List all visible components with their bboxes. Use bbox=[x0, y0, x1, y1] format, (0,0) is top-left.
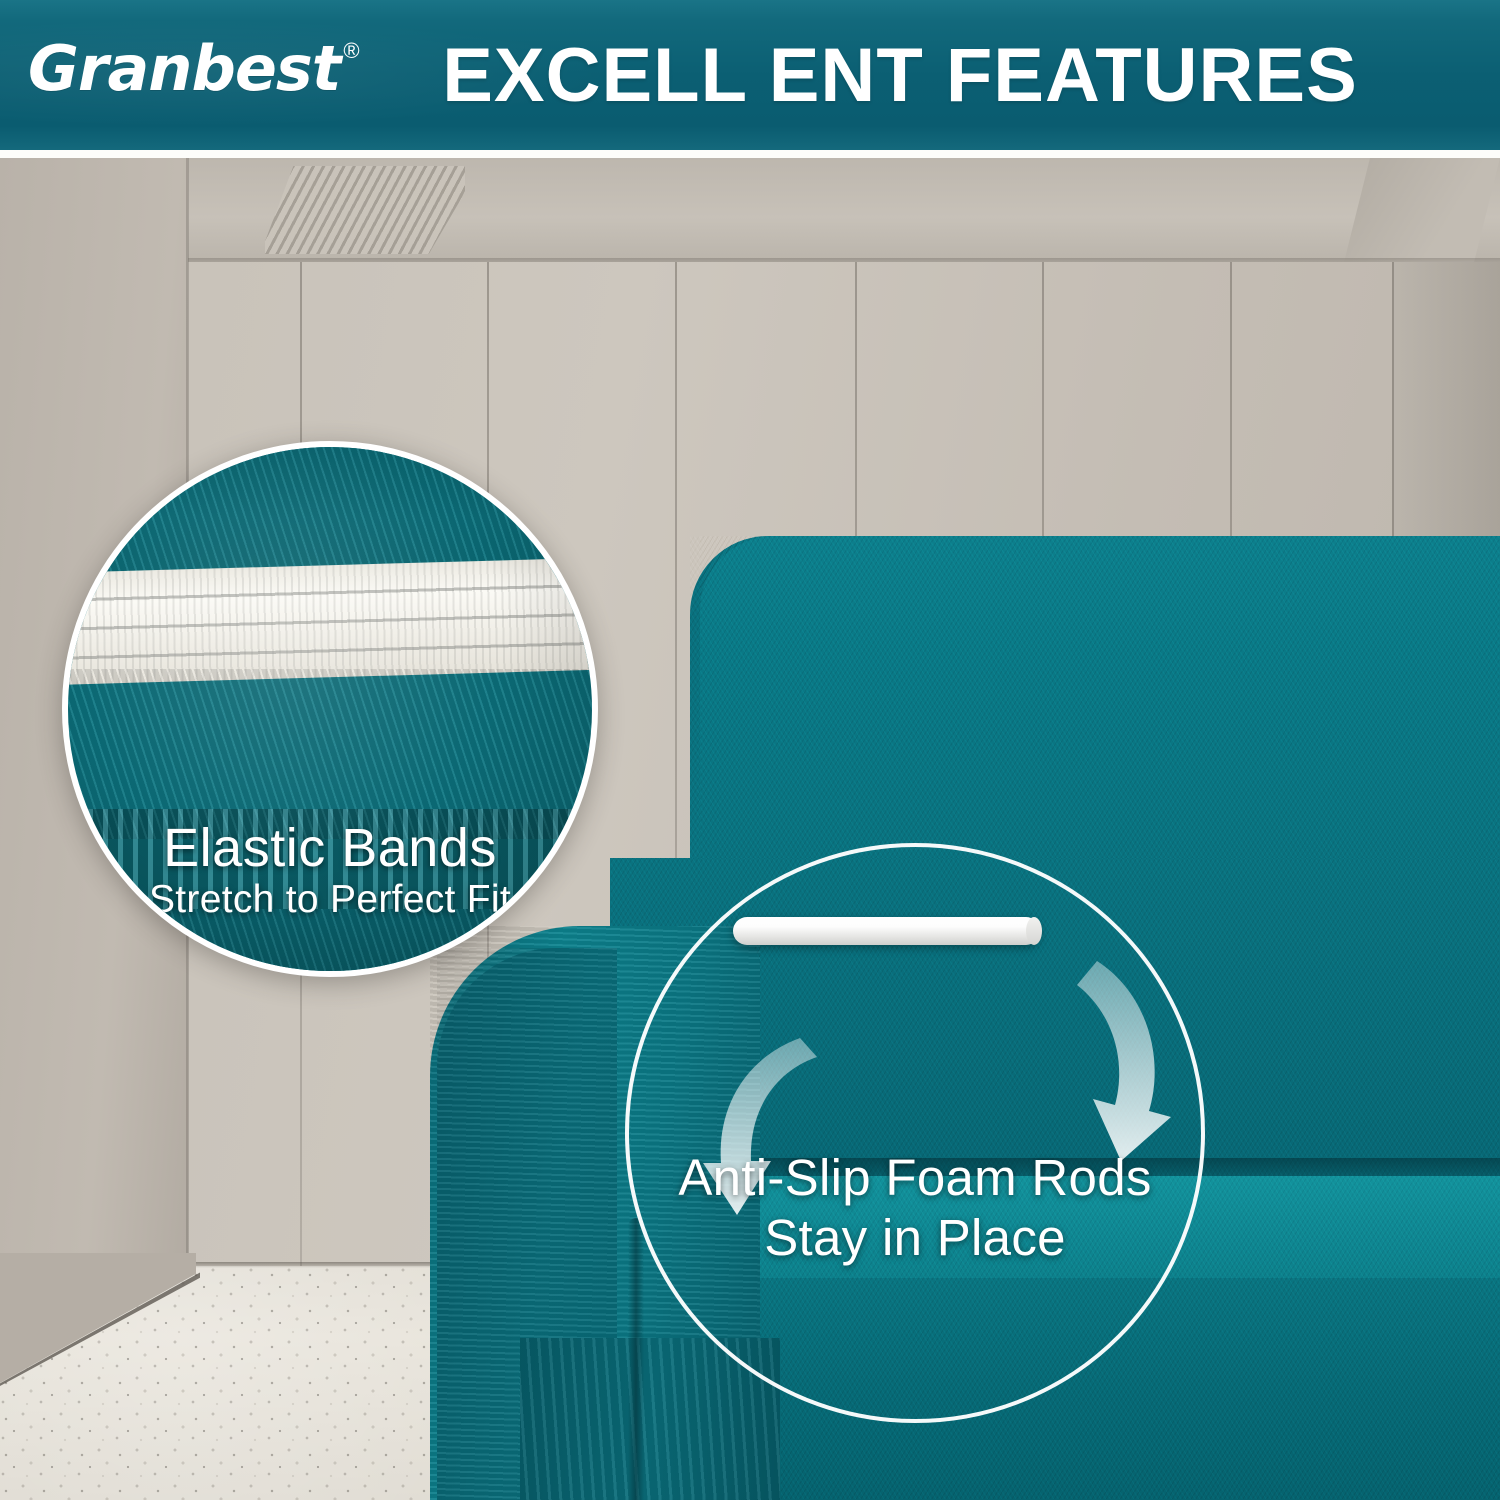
callout-elastic-bands-title: Elastic Bands bbox=[68, 820, 592, 876]
air-vent-louvers bbox=[265, 166, 465, 254]
ceiling-corner bbox=[1343, 158, 1500, 266]
callout-foam-rods-title: Anti-Slip Foam Rods bbox=[625, 1148, 1205, 1208]
air-vent-icon bbox=[265, 166, 465, 254]
callout-elastic-bands-subtitle: Stretch to Perfect Fit bbox=[68, 878, 592, 923]
banner-title: EXCELL ENT FEATURES bbox=[0, 0, 1500, 150]
callout-foam-rods-subtitle: Stay in Place bbox=[625, 1208, 1205, 1268]
product-photo: Elastic Bands Stretch to Perfect Fit bbox=[0, 158, 1500, 1500]
callout-foam-rods-caption: Anti-Slip Foam Rods Stay in Place bbox=[625, 1148, 1205, 1268]
product-feature-image: Granbest ® EXCELL ENT FEATURES bbox=[0, 0, 1500, 1500]
foam-rod-icon bbox=[733, 917, 1040, 945]
sofa-armrest-skirt bbox=[520, 1338, 780, 1500]
ceiling-slab bbox=[0, 158, 1500, 266]
banner-divider bbox=[0, 150, 1500, 158]
foam-rod-end-cap bbox=[1026, 917, 1042, 945]
header-banner: Granbest ® EXCELL ENT FEATURES bbox=[0, 0, 1500, 150]
callout-elastic-bands-caption: Elastic Bands Stretch to Perfect Fit bbox=[68, 820, 592, 923]
callout-elastic-bands: Elastic Bands Stretch to Perfect Fit bbox=[62, 441, 598, 977]
